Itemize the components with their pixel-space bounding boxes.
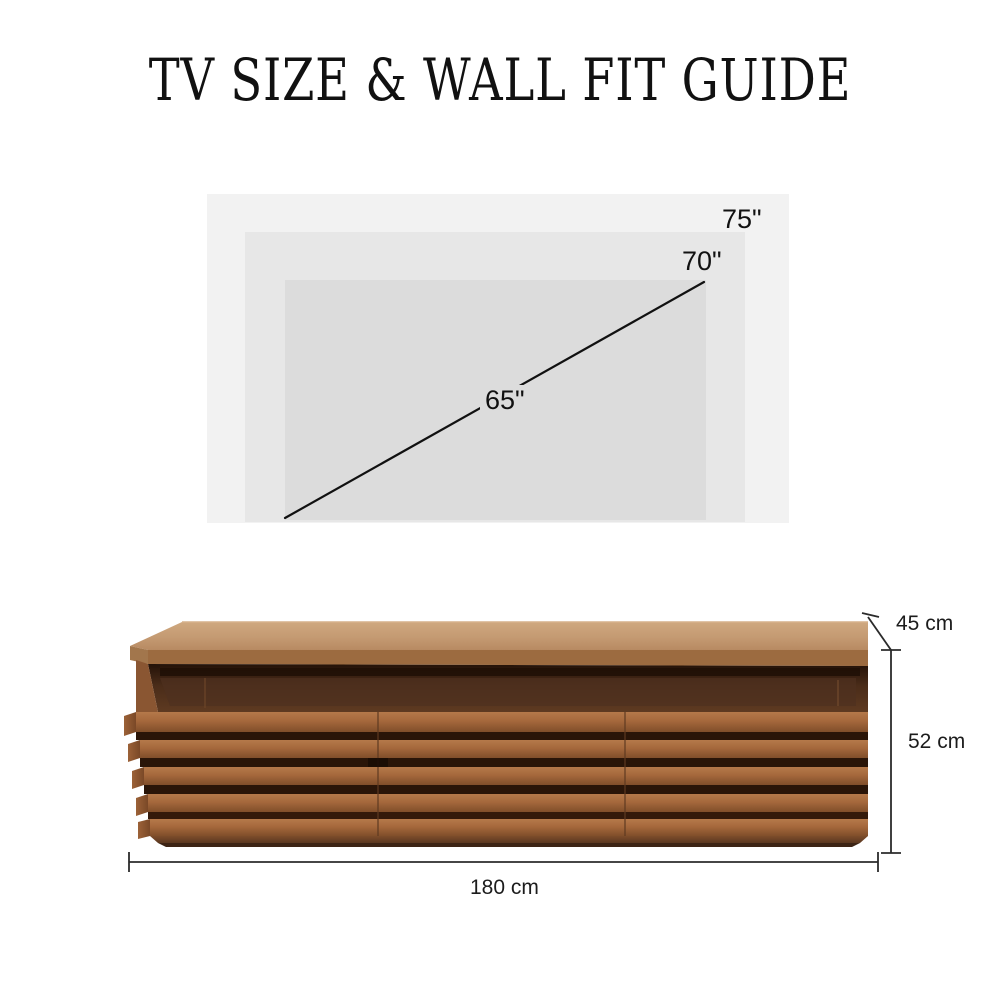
depth-label: 45 cm: [896, 612, 953, 636]
guide-canvas: TV SIZE & WALL FIT GUIDE 75" 70" 65": [0, 0, 1000, 1000]
height-dimension-line: [881, 650, 901, 853]
width-dimension-line: [129, 852, 878, 872]
dimension-annotations: [0, 0, 1000, 1000]
height-label: 52 cm: [908, 730, 965, 754]
width-label: 180 cm: [470, 876, 539, 900]
